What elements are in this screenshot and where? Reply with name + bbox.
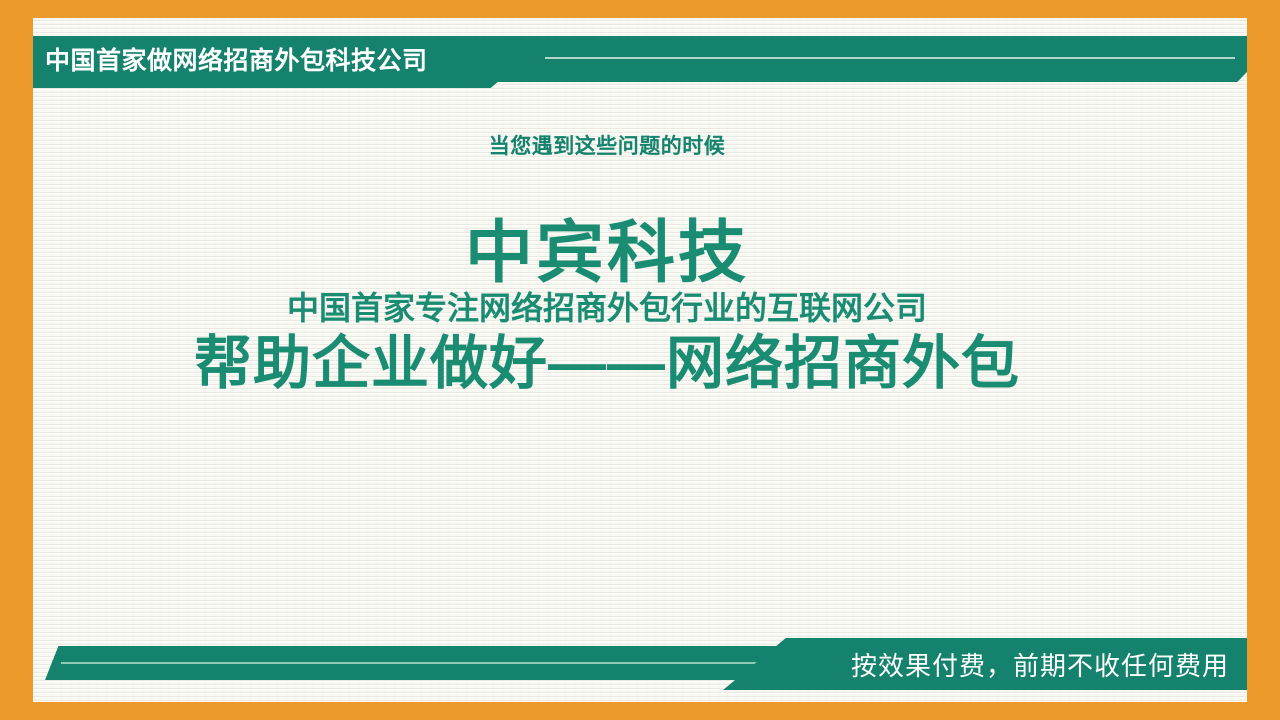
slide-root: 中国首家做网络招商外包科技公司 当您遇到这些问题的时候 中宾科技 中国首家专注网… bbox=[0, 0, 1280, 720]
kicker-text: 当您遇到这些问题的时候 bbox=[0, 130, 1214, 160]
main-headline: 帮助企业做好——网络招商外包 bbox=[0, 331, 1214, 398]
header-banner: 中国首家做网络招商外包科技公司 bbox=[33, 36, 1247, 88]
header-divider-line bbox=[545, 57, 1235, 59]
main-content: 当您遇到这些问题的时候 中宾科技 中国首家专注网络招商外包行业的互联网公司 帮助… bbox=[0, 130, 1214, 397]
brand-name: 中宾科技 bbox=[0, 218, 1214, 289]
header-title-text: 中国首家做网络招商外包科技公司 bbox=[33, 36, 553, 82]
brand-tagline: 中国首家专注网络招商外包行业的互联网公司 bbox=[0, 291, 1214, 326]
footer-divider-line bbox=[61, 662, 761, 664]
footer-claim-text: 按效果付费，前期不收任何费用 bbox=[723, 638, 1247, 690]
footer-banner: 按效果付费，前期不收任何费用 bbox=[33, 638, 1247, 690]
